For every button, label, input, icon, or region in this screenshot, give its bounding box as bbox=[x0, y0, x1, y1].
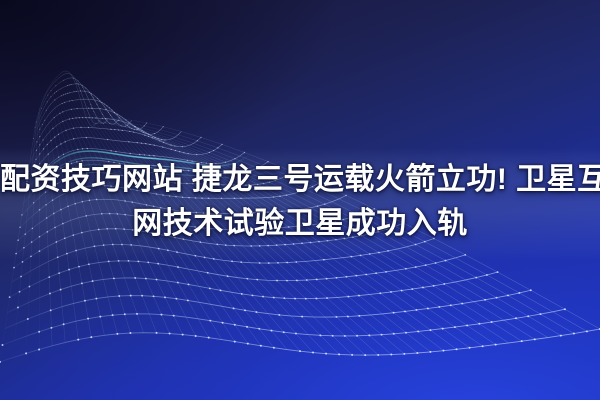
headline-line-2: 网技术试验卫星成功入轨 bbox=[0, 202, 600, 246]
headline-line-1: 配资技巧网站 捷龙三号运载火箭立功! 卫星互联 bbox=[0, 158, 600, 202]
article-banner: 配资技巧网站 捷龙三号运载火箭立功! 卫星互联 网技术试验卫星成功入轨 bbox=[0, 0, 600, 400]
page-title: 配资技巧网站 捷龙三号运载火箭立功! 卫星互联 网技术试验卫星成功入轨 bbox=[0, 158, 600, 246]
